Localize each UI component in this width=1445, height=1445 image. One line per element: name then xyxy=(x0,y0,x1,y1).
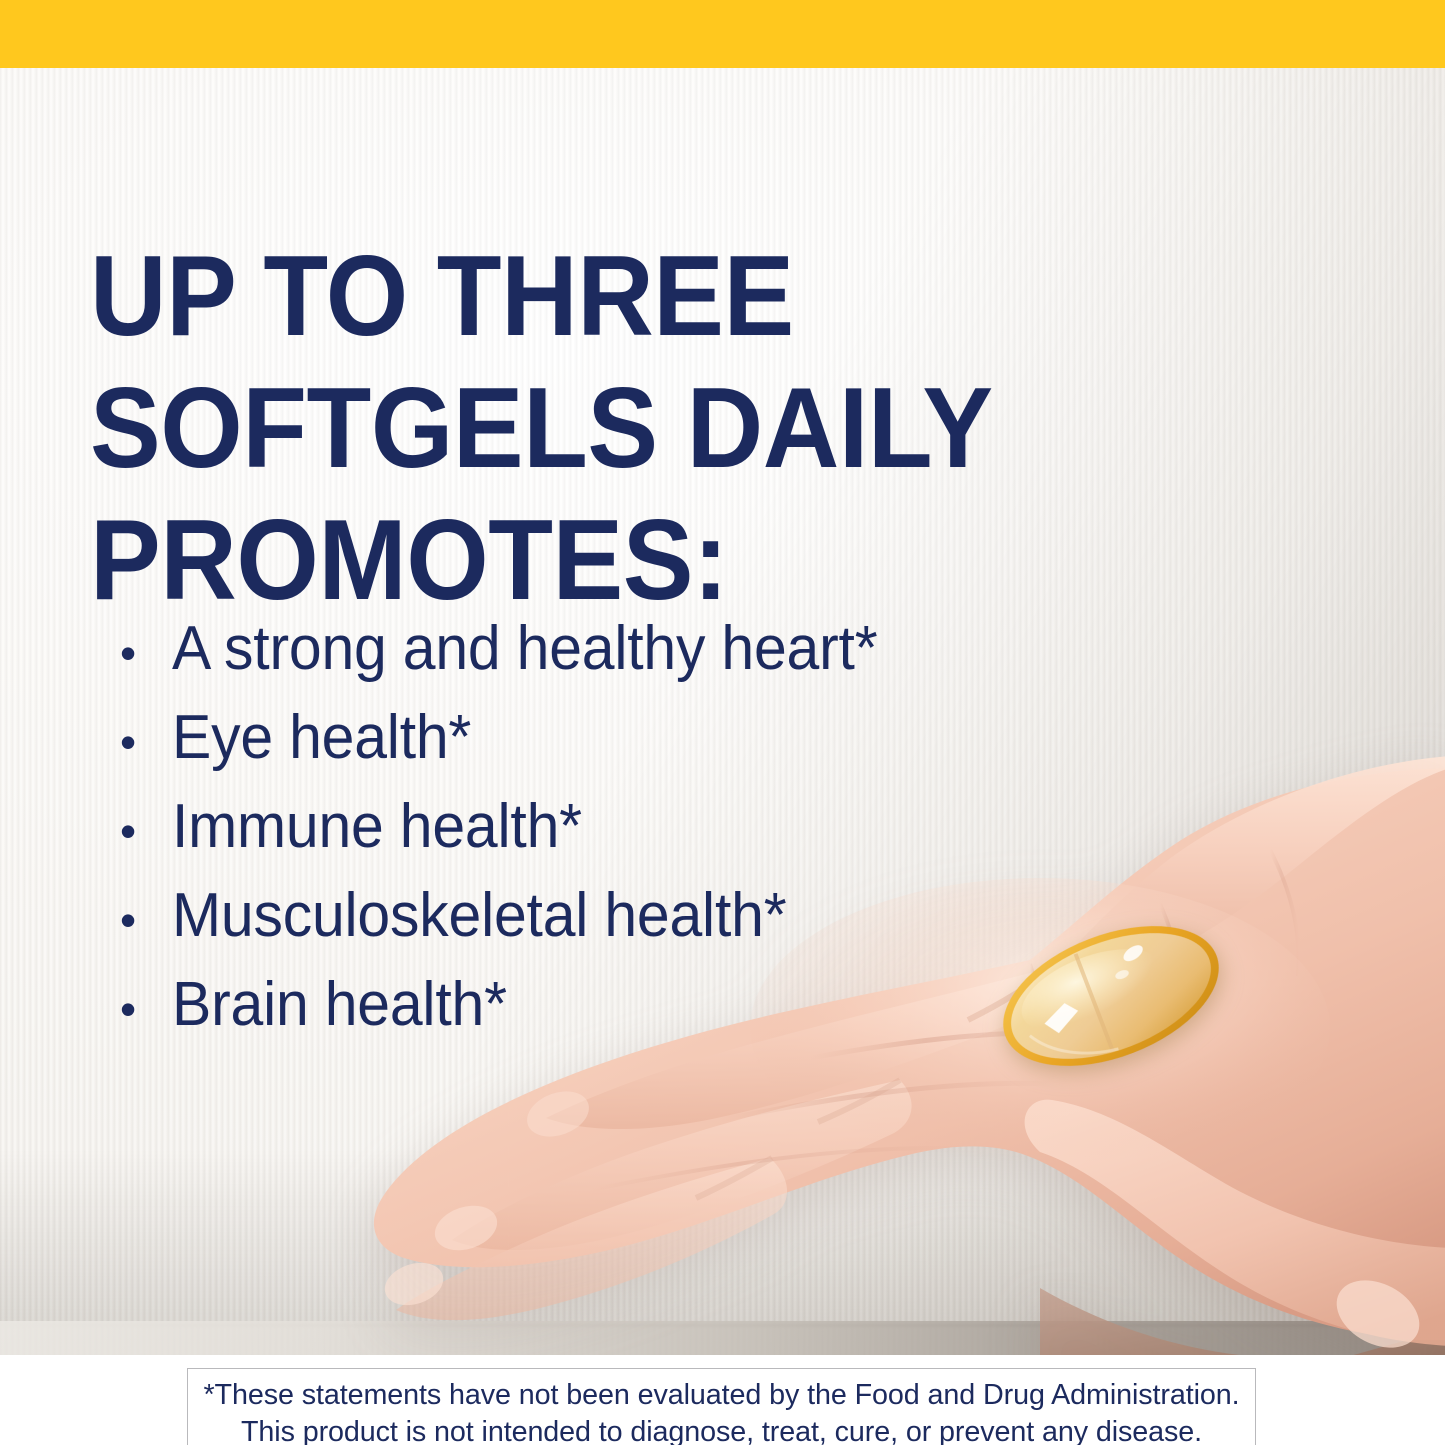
list-item-label: Eye health* xyxy=(172,703,471,773)
list-item: • Eye health* xyxy=(120,703,1020,792)
product-infographic: UP TO THREE SOFTGELS DAILY PROMOTES: • A… xyxy=(0,0,1445,1445)
list-item: • A strong and healthy heart* xyxy=(120,614,1020,703)
bullet-dot-icon: • xyxy=(120,974,172,1044)
disclaimer-line-2: This product is not intended to diagnose… xyxy=(193,1414,1249,1445)
list-item: • Immune health* xyxy=(120,792,1020,881)
list-item: • Musculoskeletal health* xyxy=(120,881,1020,970)
list-item: • Brain health* xyxy=(120,970,1020,1059)
bullet-dot-icon: • xyxy=(120,707,172,777)
disclaimer-line-1: *These statements have not been evaluate… xyxy=(193,1377,1249,1414)
bullet-dot-icon: • xyxy=(120,618,172,688)
list-item-label: Musculoskeletal health* xyxy=(172,881,786,951)
top-accent-bar xyxy=(0,0,1445,68)
fda-disclaimer-box: *These statements have not been evaluate… xyxy=(187,1368,1256,1445)
benefits-list: • A strong and healthy heart* • Eye heal… xyxy=(120,614,1020,1059)
list-item-label: Brain health* xyxy=(172,970,507,1040)
bullet-dot-icon: • xyxy=(120,885,172,955)
bullet-dot-icon: • xyxy=(120,796,172,866)
list-item-label: Immune health* xyxy=(172,792,582,862)
page-title: UP TO THREE SOFTGELS DAILY PROMOTES: xyxy=(90,231,1076,627)
list-item-label: A strong and healthy heart* xyxy=(172,614,877,684)
